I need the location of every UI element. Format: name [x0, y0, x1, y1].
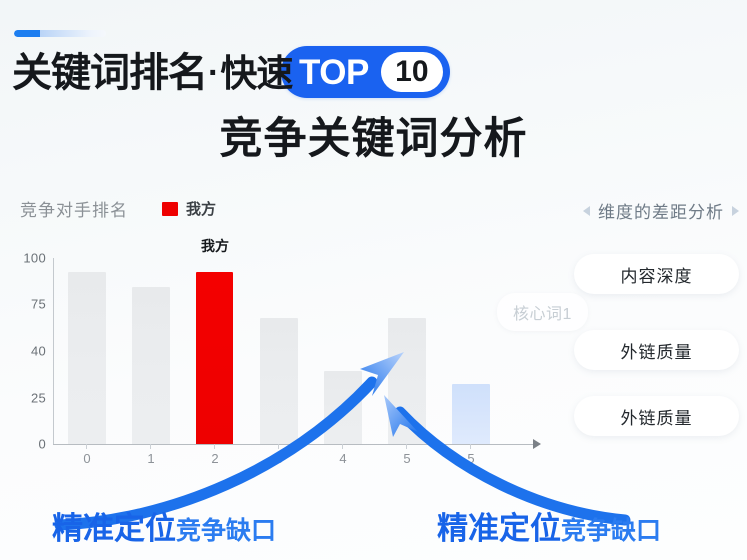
core-word-pill[interactable]: 核心词1 — [497, 293, 588, 331]
x-tick-label: 2 — [211, 451, 218, 466]
bar-2-highlight[interactable] — [196, 272, 233, 444]
caption-right-strong: 精准定位 — [437, 503, 561, 548]
bar-5[interactable] — [388, 318, 426, 444]
header-title: 关键词排名 — [12, 53, 207, 93]
bar-0[interactable] — [68, 272, 106, 444]
chevron-right-icon[interactable] — [732, 206, 739, 216]
legend-item-ours[interactable]: 我方 — [162, 198, 216, 219]
dimension-pill-backlink-quality-1[interactable]: 外链质量 — [574, 330, 739, 370]
header-separator: · — [208, 54, 219, 93]
header-line: 关键词排名 · 快速 — [12, 44, 292, 102]
x-tick-label: 5 — [403, 451, 410, 466]
caption-left-light: 竞争缺口 — [176, 511, 276, 547]
y-axis: 100 75 40 25 0 — [0, 248, 46, 434]
bar-plot-area: 我方 — [54, 258, 534, 444]
x-tick-label: 5 — [467, 451, 474, 466]
header-subtitle: 快速 — [220, 55, 292, 92]
legend-swatch-icon — [162, 202, 178, 216]
top-badge-value: 10 — [381, 52, 443, 92]
progress-accent-track — [40, 30, 106, 37]
top-badge-label: TOP — [299, 55, 369, 90]
dimension-pill-backlink-quality-2[interactable]: 外链质量 — [574, 396, 739, 436]
legend-item-label: 我方 — [186, 198, 216, 219]
top-rank-badge[interactable]: TOP 10 — [281, 46, 450, 98]
caption-right-light: 竞争缺口 — [561, 511, 661, 547]
bar-6-target[interactable] — [452, 384, 490, 444]
chart-legend: 竞争对手排名 我方 — [20, 196, 216, 221]
dimension-pill-content-depth[interactable]: 内容深度 — [574, 254, 739, 294]
x-axis-arrow-icon — [533, 439, 541, 449]
y-tick-label: 25 — [0, 391, 46, 406]
y-tick-label: 75 — [0, 297, 46, 312]
y-tick-label: 0 — [0, 437, 46, 452]
bar-4[interactable] — [324, 371, 362, 444]
bar-3[interactable] — [260, 318, 298, 444]
caption-right: 精准定位 竞争缺口 — [437, 503, 661, 548]
bar-1[interactable] — [132, 287, 170, 444]
right-panel-header: 维度的差距分析 — [583, 198, 739, 223]
page-title: 竞争关键词分析 — [0, 115, 747, 164]
x-tick-label: 0 — [83, 451, 90, 466]
progress-accent — [14, 30, 106, 37]
y-tick-label: 100 — [0, 251, 46, 266]
caption-left-strong: 精准定位 — [52, 503, 176, 548]
caption-left: 精准定位 竞争缺口 — [52, 503, 276, 548]
y-tick-label: 40 — [0, 344, 46, 359]
x-axis-line — [53, 444, 535, 445]
chevron-left-icon[interactable] — [583, 206, 590, 216]
x-tick-label: 4 — [339, 451, 346, 466]
chart-axis-title: 竞争对手排名 — [20, 196, 128, 221]
right-panel-header-label: 维度的差距分析 — [598, 198, 724, 223]
progress-accent-filled — [14, 30, 40, 37]
slide-root: 关键词排名 · 快速 TOP 10 竞争关键词分析 竞争对手排名 我方 维度的差… — [0, 0, 747, 560]
bar-highlight-label: 我方 — [201, 236, 229, 256]
x-tick-label: 1 — [147, 451, 154, 466]
bar-chart: 100 75 40 25 0 我方 0 — [0, 248, 560, 480]
x-tick-label: 3 — [275, 451, 282, 466]
